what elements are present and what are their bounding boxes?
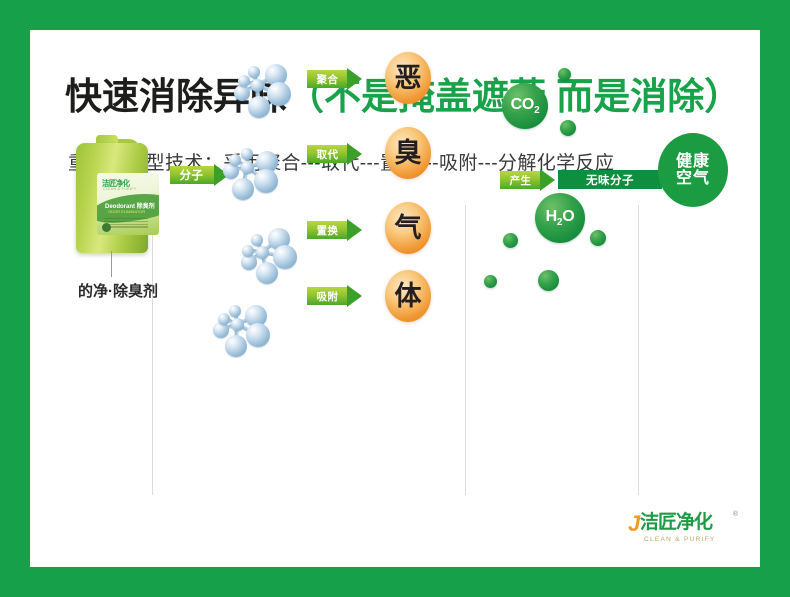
bottle-label: 洁匠净化 CLEAN & PURIFY Deodorant 除臭剂 ODOR E… <box>97 173 159 235</box>
step-arrow-label: 置换 <box>316 222 338 237</box>
molecule-atom <box>242 245 254 257</box>
step-arrow-bar: 聚合 <box>307 70 347 88</box>
odorless-molecule-banner: 无味分子 <box>558 170 662 189</box>
odor-circle: 恶 <box>385 52 431 104</box>
h2o-label: H2O <box>546 208 575 228</box>
step-arrow-bar: 吸附 <box>307 287 347 305</box>
molecule-atom <box>225 335 247 357</box>
molecule-atom <box>229 305 241 317</box>
produce-arrow-label: 产生 <box>509 172 531 187</box>
molecule-atom <box>254 169 278 193</box>
odor-circle-label: 气 <box>395 215 422 242</box>
molecule-cluster <box>230 220 294 284</box>
molecule-atom <box>232 178 254 200</box>
brand-logo-tagline: CLEAN & PURIFY <box>644 536 716 543</box>
step-arrow-bar: 置换 <box>307 221 347 239</box>
odor-circle: 臭 <box>385 127 431 179</box>
bubble-small <box>503 233 518 248</box>
step-arrow-head-icon <box>347 143 362 165</box>
banner-label: 无味分子 <box>586 172 634 188</box>
molecule-core-atom <box>256 246 269 259</box>
molecule-atom <box>256 262 278 284</box>
molecule-atom <box>241 148 253 160</box>
step-arrow-head-icon <box>347 219 362 241</box>
step-arrow-head-icon <box>347 68 362 90</box>
healthy-air-circle: 健康 空气 <box>658 133 728 207</box>
molecule-cluster <box>225 53 289 117</box>
molecule-cluster <box>215 135 279 199</box>
molecule-atom <box>238 75 250 87</box>
step-arrow: 取代 <box>307 142 362 165</box>
step-arrow: 聚合 <box>307 67 362 90</box>
step-arrow-head-icon <box>347 285 362 307</box>
molecule-atom <box>248 66 260 78</box>
brand-logo-mark-icon: J <box>628 513 640 535</box>
molecule-atom <box>213 322 229 338</box>
molecule-atom <box>267 82 291 106</box>
molecule-arrow-bar: 分子 <box>170 166 214 184</box>
step-arrow-label: 取代 <box>316 146 338 161</box>
poster-root: 快速消除异味（不是掩盖遮蔽 而是消除） 重合法新型技术：采用聚合---取代---… <box>0 0 790 597</box>
co2-bubble: CO2 <box>502 83 548 129</box>
product-bottle-group: 洁匠净化 CLEAN & PURIFY Deodorant 除臭剂 ODOR E… <box>60 135 165 280</box>
poster-inner-panel: 快速消除异味（不是掩盖遮蔽 而是消除） 重合法新型技术：采用聚合---取代---… <box>30 30 760 567</box>
produce-arrow-bar: 产生 <box>500 171 540 189</box>
bottle-label-product-sub: ODOR ELIMINATOR <box>108 209 145 214</box>
odor-circle-label: 臭 <box>395 140 422 167</box>
brand-logo: J 洁匠净化 ® CLEAN & PURIFY <box>628 511 738 549</box>
healthy-air-line1: 健康 <box>676 153 710 170</box>
odor-circle: 体 <box>385 270 431 322</box>
healthy-air-line2: 空气 <box>676 170 710 187</box>
step-arrow: 置换 <box>307 218 362 241</box>
molecule-atom <box>248 96 270 118</box>
brand-logo-registered-icon: ® <box>733 511 738 518</box>
molecule-core-atom <box>231 318 244 331</box>
divider-right <box>638 205 639 495</box>
step-arrow-label: 吸附 <box>316 288 338 303</box>
molecule-atom <box>273 245 297 269</box>
produce-arrow: 产生 <box>500 168 555 191</box>
odor-circle: 气 <box>385 202 431 254</box>
molecule-core-atom <box>241 161 254 174</box>
molecule-atom <box>251 234 263 246</box>
molecule-core-atom <box>251 79 264 92</box>
bottle-label-subtext: CLEAN & PURIFY <box>103 187 137 191</box>
bubble-small <box>560 120 576 136</box>
molecule-arrow-label: 分子 <box>180 166 204 182</box>
molecule-atom <box>246 323 270 347</box>
odor-circle-label: 恶 <box>395 65 422 92</box>
molecule-atom <box>229 154 241 166</box>
divider-mid <box>465 205 466 495</box>
bubble-small <box>484 275 497 288</box>
bottle-body: 洁匠净化 CLEAN & PURIFY Deodorant 除臭剂 ODOR E… <box>76 143 148 253</box>
bubble-small <box>590 230 606 246</box>
odor-circle-label: 体 <box>395 283 422 310</box>
molecule-atom <box>234 85 250 101</box>
molecule-cluster <box>205 292 269 356</box>
product-caption: 的净·除臭剂 <box>78 280 158 301</box>
step-arrow-bar: 取代 <box>307 145 347 163</box>
molecule-atom <box>218 313 230 325</box>
h2o-bubble: H2O <box>535 193 585 243</box>
bubble-small <box>558 68 571 81</box>
bottle-pointer-line <box>111 251 112 277</box>
co2-label: CO2 <box>511 96 540 116</box>
brand-logo-name: 洁匠净化 <box>640 513 712 532</box>
step-arrow-label: 聚合 <box>316 71 338 86</box>
molecule-atom <box>241 254 257 270</box>
bubble-small <box>538 270 559 291</box>
produce-arrow-head-icon <box>540 169 555 191</box>
step-arrow: 吸附 <box>307 284 362 307</box>
bottle-label-badge-icon <box>102 223 111 232</box>
